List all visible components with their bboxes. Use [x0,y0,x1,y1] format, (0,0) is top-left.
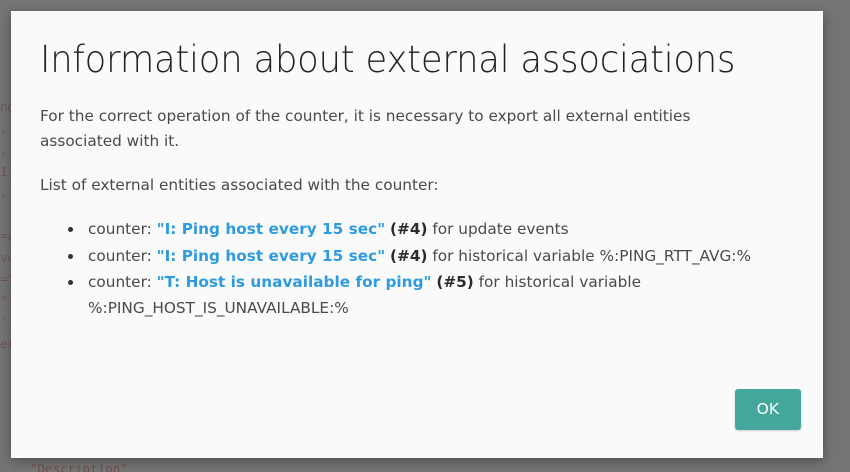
background-bottom-text: "Description" [30,461,128,472]
item-prefix-label: counter: [88,247,157,265]
list-item: counter: "T: Host is unavailable for pin… [64,270,793,321]
dialog-footer: OK [735,389,801,430]
entity-id-label: (#4) [390,247,427,265]
external-associations-list: counter: "I: Ping host every 15 sec" (#4… [40,217,793,321]
page-title: Information about external associations [40,37,759,82]
entity-id-label: (#5) [436,273,473,291]
list-item: counter: "I: Ping host every 15 sec" (#4… [64,244,793,270]
list-intro-paragraph: List of external entities associated wit… [40,173,740,198]
entity-link[interactable]: "T: Host is unavailable for ping" [157,273,432,291]
item-prefix-label: counter: [88,220,157,238]
information-modal-dialog: Information about external associations … [11,11,823,458]
ok-button[interactable]: OK [735,389,801,430]
entity-id-label: (#4) [390,220,427,238]
dialog-content: Information about external associations … [11,11,823,321]
item-suffix-label: for update events [428,220,569,238]
entity-link[interactable]: "I: Ping host every 15 sec" [157,220,386,238]
item-suffix-label: for historical variable %:PING_RTT_AVG:% [428,247,751,265]
list-item: counter: "I: Ping host every 15 sec" (#4… [64,217,793,243]
entity-link[interactable]: "I: Ping host every 15 sec" [157,247,386,265]
item-prefix-label: counter: [88,273,157,291]
intro-paragraph: For the correct operation of the counter… [40,104,740,154]
